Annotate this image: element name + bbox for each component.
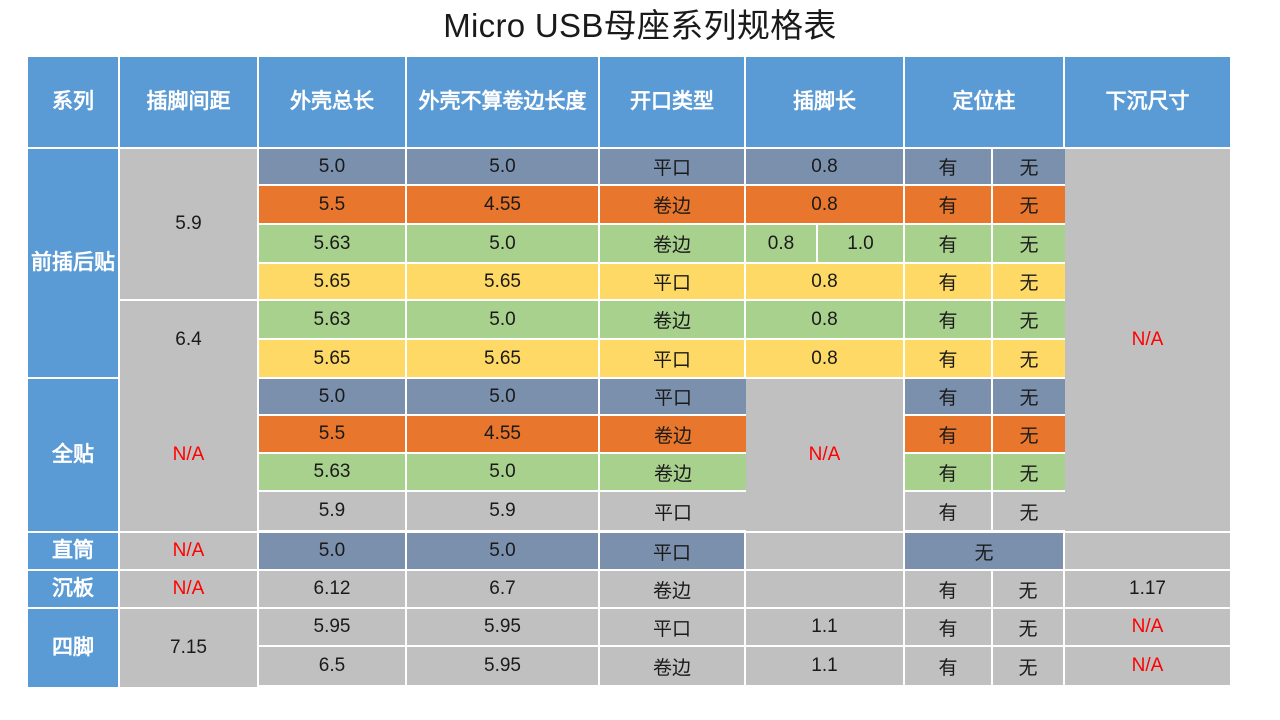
cell-locating-post-yes: 有	[905, 225, 993, 264]
group-four-pin: 四脚 7.15 5.95 5.95 平口 1.1 有 无 N/A 6.5 5.9…	[28, 609, 1230, 687]
cell-pin-pitch-7-15: 7.15	[120, 609, 259, 687]
na-text: N/A	[173, 578, 205, 600]
table-row: 有 无	[905, 379, 1065, 416]
cell-opening-type: 平口	[600, 533, 746, 571]
cell-pin-pitch-na-full-paste: N/A	[120, 379, 259, 533]
table-row: 5.63 5.0 卷边 0.8 有 无	[259, 301, 1065, 340]
cell-locating-post-no: 无	[993, 340, 1065, 379]
group-full-paste: 全贴 N/A 5.0 5.0 平口 5.5 4.55 卷边 5.63 5.	[28, 379, 1230, 533]
cell-locating-post-yes: 有	[905, 301, 993, 340]
cell-pin-length: 0.8	[746, 149, 905, 186]
na-text: N/A	[1132, 329, 1164, 351]
group-straight-barrel: 直筒 N/A 5.0 5.0 平口 无	[28, 533, 1230, 571]
header-pin-pitch: 插脚间距	[120, 57, 259, 149]
cell-shell-total-length: 5.5	[259, 416, 407, 454]
table-row: 5.9 5.9 平口	[259, 492, 746, 532]
header-locating-post: 定位柱	[905, 57, 1065, 149]
na-text: N/A	[1132, 616, 1164, 638]
cell-sink-dimension-na: N/A	[1065, 609, 1230, 647]
cell-shell-total-length: 5.63	[259, 301, 407, 340]
series-label-four-pin: 四脚	[28, 609, 120, 687]
cell-shell-total-length: 5.63	[259, 225, 407, 264]
table-row: 有 无	[905, 416, 1065, 454]
page-title: Micro USB母座系列规格表	[0, 2, 1280, 52]
cell-pin-length-na-merged: N/A	[746, 379, 905, 533]
pitch-cell-6-4: 6.4	[120, 301, 259, 379]
cell-opening-type: 卷边	[600, 186, 746, 225]
na-text: N/A	[173, 444, 205, 466]
table-row: 有 无	[905, 492, 1065, 532]
cell-shell-total-length: 5.65	[259, 264, 407, 302]
table-row: 5.0 5.0 平口 0.8 有 无	[259, 149, 1065, 186]
series-label-front-insert-rear-paste: 前插后贴	[28, 149, 120, 379]
table-header-row: 系列 插脚间距 外壳总长 外壳不算卷边长度 开口类型 插脚长 定位柱 下沉尺寸	[28, 57, 1230, 149]
table-row: 5.95 5.95 平口 1.1 有 无 N/A	[259, 609, 1230, 647]
cell-locating-post-yes: 有	[905, 264, 993, 302]
cell-locating-post-yes: 有	[905, 340, 993, 379]
cell-shell-no-curl-length: 4.55	[407, 416, 600, 454]
cell-shell-no-curl-length: 5.95	[407, 647, 600, 687]
table-row: 5.0 5.0 平口	[259, 379, 746, 416]
cell-sink-dimension-na: N/A	[1065, 647, 1230, 687]
header-opening-type: 开口类型	[600, 57, 746, 149]
cell-shell-no-curl-length: 4.55	[407, 186, 600, 225]
cell-sink-dimension-empty	[1065, 533, 1230, 571]
cell-locating-post-no: 无	[993, 647, 1065, 687]
cell-shell-no-curl-length: 5.0	[407, 379, 600, 416]
cell-pin-length-b: 1.0	[818, 225, 905, 264]
cell-pin-length: 0.8	[746, 264, 905, 302]
cell-shell-total-length: 5.95	[259, 609, 407, 647]
cell-locating-post-yes: 有	[905, 454, 993, 492]
cell-locating-post-merged-no: 无	[905, 533, 1065, 571]
cell-locating-post-yes: 有	[905, 149, 993, 186]
cell-locating-post-yes: 有	[905, 379, 993, 416]
table-row: 5.63 5.0 卷边 0.8 1.0 有 无	[259, 225, 1065, 264]
cell-opening-type: 平口	[600, 379, 746, 416]
cell-shell-total-length: 5.5	[259, 186, 407, 225]
cell-locating-post-yes: 有	[905, 416, 993, 454]
group-front-insert-rear-paste: 前插后贴 5.9 5.0 5.0 平口 0.8 有 无	[28, 149, 1230, 379]
header-shell-total-length: 外壳总长	[259, 57, 407, 149]
cell-shell-total-length: 5.9	[259, 492, 407, 532]
cell-locating-post-no: 无	[993, 571, 1065, 609]
cell-pin-length-empty	[746, 571, 905, 609]
na-text: N/A	[809, 444, 841, 466]
group-sink-plate: 沉板 N/A 6.12 6.7 卷边 有 无 1.17	[28, 571, 1230, 609]
cell-locating-post-no: 无	[993, 186, 1065, 225]
pitch-cell-5-9: 5.9	[120, 149, 259, 301]
cell-locating-post-no: 无	[993, 609, 1065, 647]
na-text: N/A	[1132, 655, 1164, 677]
cell-shell-total-length: 5.0	[259, 533, 407, 571]
cell-opening-type: 平口	[600, 492, 746, 532]
cell-pin-length-a: 0.8	[746, 225, 818, 264]
cell-locating-post-yes: 有	[905, 186, 993, 225]
cell-opening-type: 卷边	[600, 301, 746, 340]
cell-shell-total-length: 5.65	[259, 340, 407, 379]
table-row: 5.65 5.65 平口 0.8 有 无	[259, 264, 1065, 302]
cell-shell-no-curl-length: 5.0	[407, 301, 600, 340]
cell-opening-type: 卷边	[600, 647, 746, 687]
cell-pin-length: 0.8	[746, 186, 905, 225]
table-row: 有 无	[905, 454, 1065, 492]
series-label-straight-barrel: 直筒	[28, 533, 120, 571]
cell-shell-no-curl-length: 5.0	[407, 454, 600, 492]
cell-locating-post-yes: 有	[905, 647, 993, 687]
cell-locating-post-yes: 有	[905, 571, 993, 609]
cell-opening-type: 卷边	[600, 416, 746, 454]
cell-opening-type: 平口	[600, 264, 746, 302]
cell-shell-total-length: 5.0	[259, 379, 407, 416]
cell-sink-dimension: 1.17	[1065, 571, 1230, 609]
cell-shell-no-curl-length: 5.65	[407, 340, 600, 379]
table-row: 5.5 4.55 卷边	[259, 416, 746, 454]
cell-locating-post-no: 无	[993, 492, 1065, 532]
cell-shell-no-curl-length: 5.9	[407, 492, 600, 532]
table-row: 5.65 5.65 平口 0.8 有 无	[259, 340, 1065, 379]
table-row: 5.5 4.55 卷边 0.8 有 无	[259, 186, 1065, 225]
spec-table: 系列 插脚间距 外壳总长 外壳不算卷边长度 开口类型 插脚长 定位柱 下沉尺寸 …	[28, 57, 1230, 687]
series-label-sink-plate: 沉板	[28, 571, 120, 609]
cell-shell-total-length: 6.5	[259, 647, 407, 687]
cell-pin-length: 0.8	[746, 340, 905, 379]
cell-pin-length: 1.1	[746, 609, 905, 647]
cell-locating-post-no: 无	[993, 149, 1065, 186]
cell-pin-pitch-na-straight-barrel: N/A	[120, 533, 259, 571]
cell-shell-total-length: 5.63	[259, 454, 407, 492]
cell-shell-total-length: 6.12	[259, 571, 407, 609]
cell-shell-total-length: 5.0	[259, 149, 407, 186]
cell-opening-type: 平口	[600, 340, 746, 379]
cell-pin-length: 0.8	[746, 301, 905, 340]
header-pin-length: 插脚长	[746, 57, 905, 149]
cell-opening-type: 平口	[600, 609, 746, 647]
header-shell-no-curl-length: 外壳不算卷边长度	[407, 57, 600, 149]
cell-shell-no-curl-length: 6.7	[407, 571, 600, 609]
table-row: 5.63 5.0 卷边	[259, 454, 746, 492]
header-sink-dimension: 下沉尺寸	[1065, 57, 1230, 149]
cell-pin-length-empty	[746, 533, 905, 571]
cell-locating-post-no: 无	[993, 264, 1065, 302]
header-series: 系列	[28, 57, 120, 149]
cell-pin-length: 1.1	[746, 647, 905, 687]
series-label-full-paste: 全贴	[28, 379, 120, 533]
cell-locating-post-yes: 有	[905, 492, 993, 532]
na-text: N/A	[173, 540, 205, 562]
cell-locating-post-no: 无	[993, 301, 1065, 340]
cell-opening-type: 平口	[600, 149, 746, 186]
cell-locating-post-no: 无	[993, 454, 1065, 492]
cell-opening-type: 卷边	[600, 571, 746, 609]
cell-shell-no-curl-length: 5.65	[407, 264, 600, 302]
cell-shell-no-curl-length: 5.0	[407, 149, 600, 186]
cell-opening-type: 卷边	[600, 454, 746, 492]
cell-locating-post-no: 无	[993, 225, 1065, 264]
slide-canvas: Micro USB母座系列规格表 系列 插脚间距 外壳总长 外壳不算卷边长度 开…	[0, 0, 1280, 720]
cell-sink-dimension-merged-na: N/A	[1065, 149, 1230, 533]
cell-locating-post-no: 无	[993, 416, 1065, 454]
cell-locating-post-no: 无	[993, 379, 1065, 416]
cell-opening-type: 卷边	[600, 225, 746, 264]
cell-shell-no-curl-length: 5.0	[407, 533, 600, 571]
cell-shell-no-curl-length: 5.95	[407, 609, 600, 647]
cell-locating-post-yes: 有	[905, 609, 993, 647]
table-row: 6.5 5.95 卷边 1.1 有 无 N/A	[259, 647, 1230, 687]
cell-pin-pitch-na-sink-plate: N/A	[120, 571, 259, 609]
cell-shell-no-curl-length: 5.0	[407, 225, 600, 264]
